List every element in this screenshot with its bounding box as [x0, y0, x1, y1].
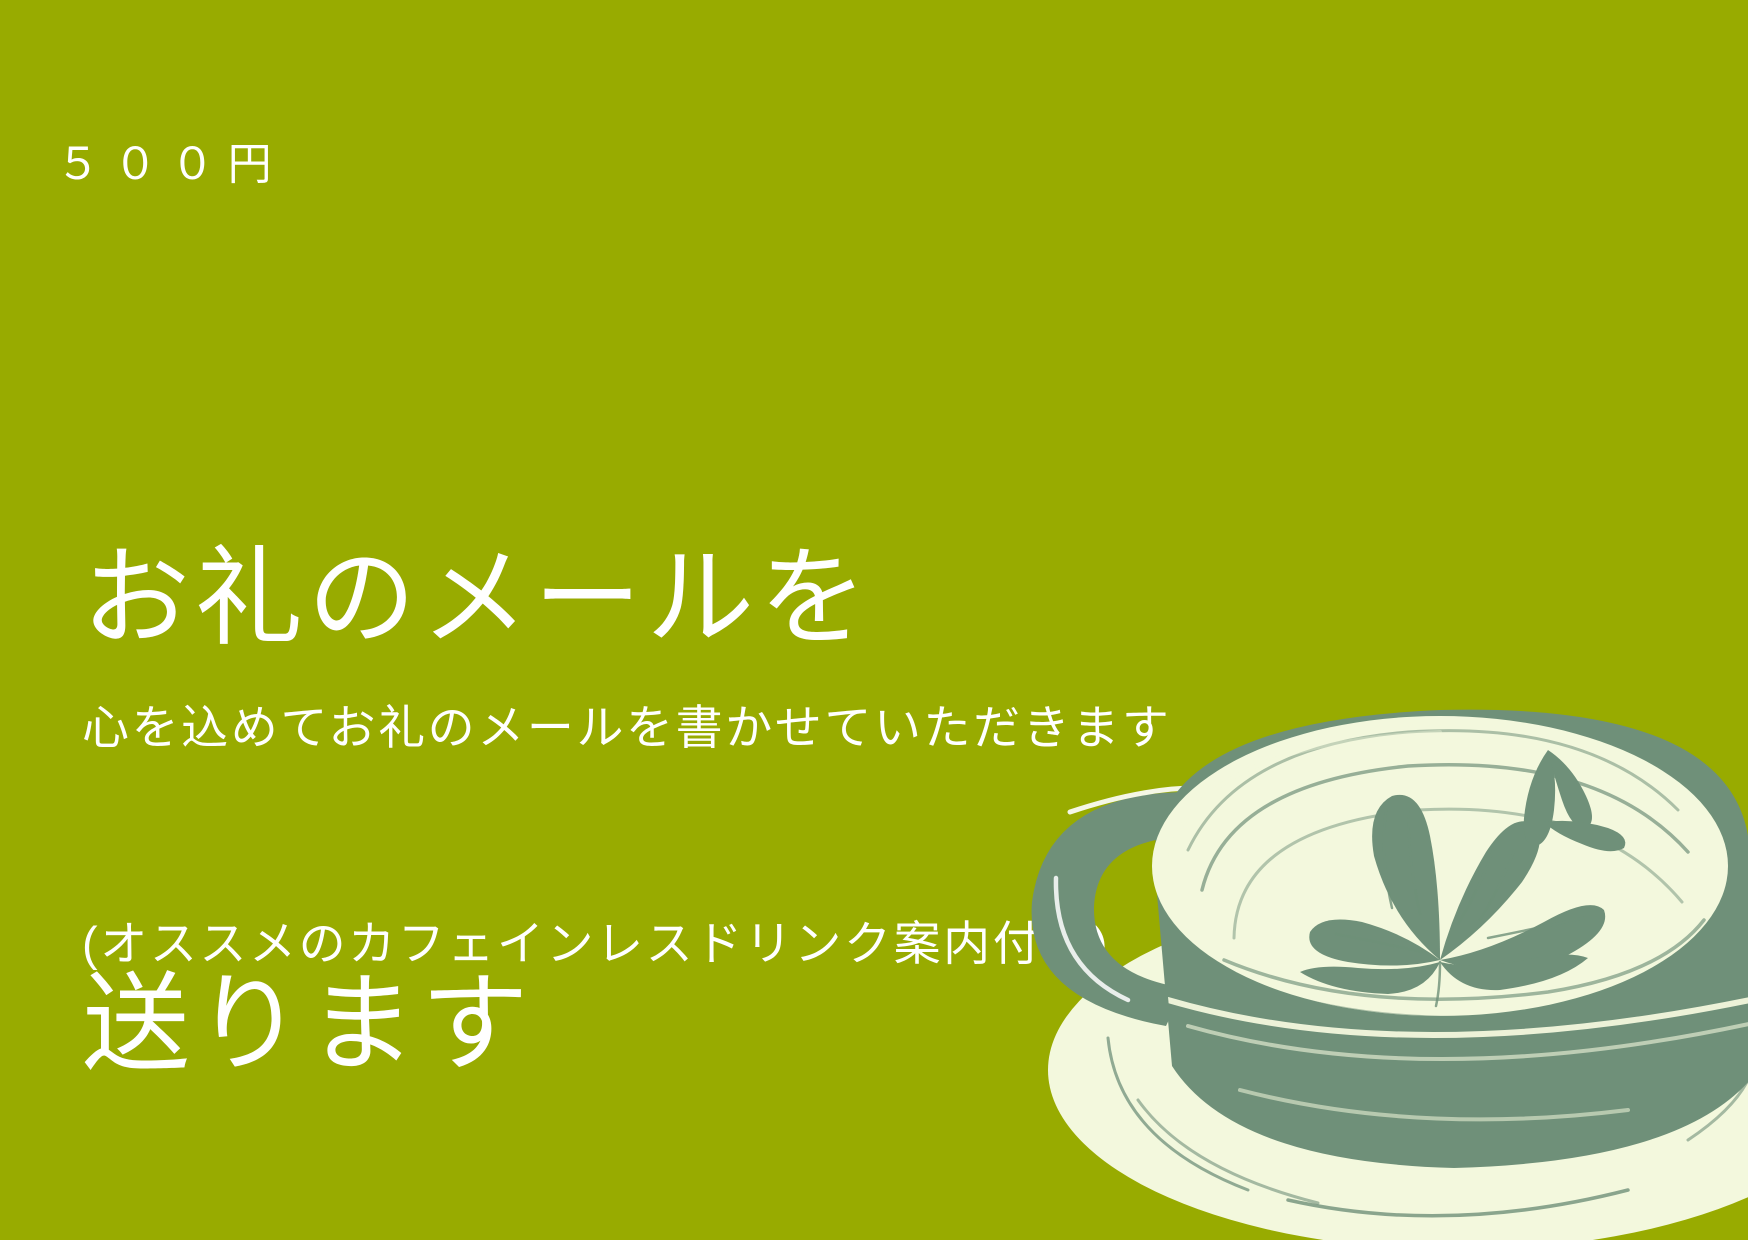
- subtitle-line-2: (オススメのカフェインレスドリンク案内付き): [82, 908, 1171, 980]
- price-label: ５００円: [56, 143, 285, 187]
- cup-rim-highlight: [1168, 732, 1440, 884]
- foam-sketch-strokes: [1336, 804, 1584, 1006]
- foam-swirl-lines: [1188, 731, 1704, 1018]
- foam-surface: [1152, 716, 1728, 1017]
- page-subtitle: 心を込めてお礼のメールを書かせていただきます (オススメのカフェインレスドリンク…: [82, 548, 1171, 1124]
- subtitle-line-1: 心を込めてお礼のメールを書かせていただきます: [82, 692, 1171, 764]
- poster-canvas: ５００円 お礼のメールを 送ります 心を込めてお礼のメールを書かせていただきます…: [0, 0, 1748, 1240]
- rosetta-latte-art: [1300, 750, 1625, 994]
- cup-body: [1154, 710, 1748, 1168]
